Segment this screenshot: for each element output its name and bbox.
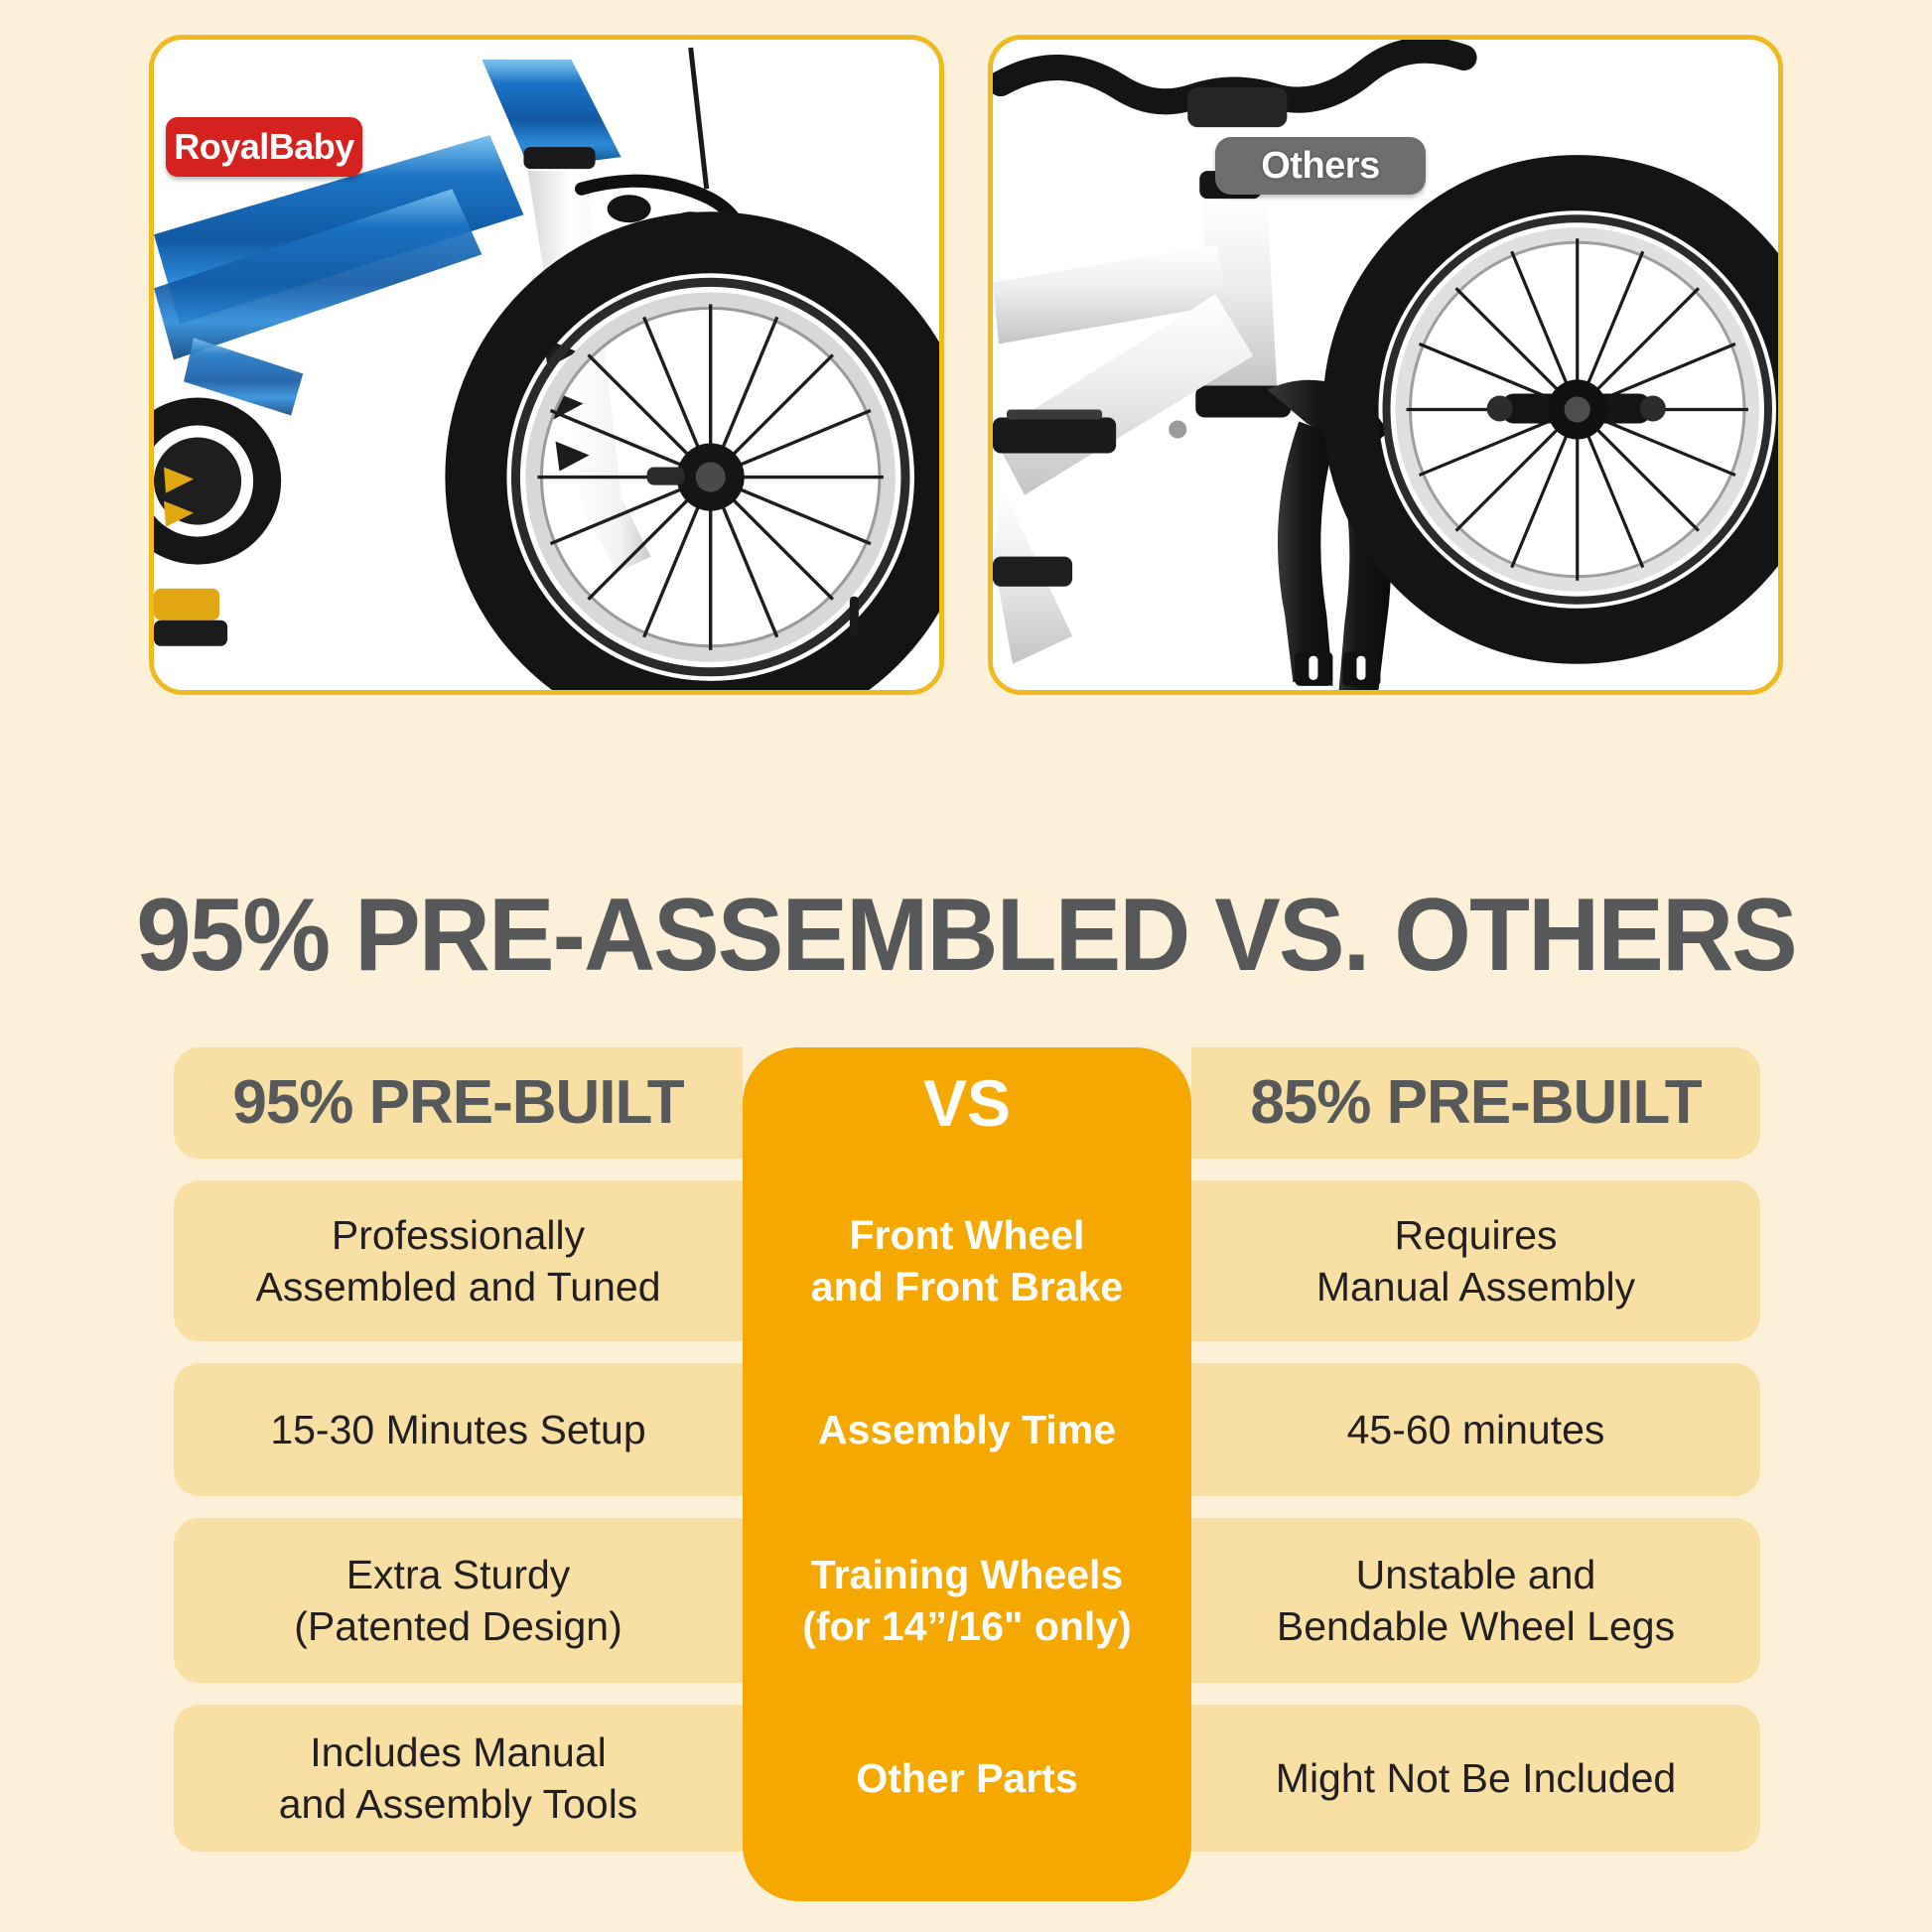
photo-comparison-strip: RoyalBaby (149, 35, 1783, 695)
row-cell-left: ProfessionallyAssembled and Tuned (174, 1180, 743, 1341)
page-title: 95% PRE-ASSEMBLED VS. OTHERS (39, 884, 1893, 987)
table-header-row: 95% PRE-BUILT VS 85% PRE-BUILT (0, 1047, 1932, 1159)
photo-panel-royalbaby: RoyalBaby (149, 35, 944, 695)
badge-royalbaby: RoyalBaby (166, 117, 362, 177)
row-cell-right: Unstable andBendable Wheel Legs (1191, 1518, 1760, 1683)
row-cell-feature: Assembly Time (743, 1363, 1191, 1496)
header-cell-right: 85% PRE-BUILT (1191, 1047, 1760, 1159)
badge-others-label: Others (1261, 145, 1379, 188)
header-cell-vs: VS (743, 1047, 1191, 1159)
row-cell-left: 15-30 Minutes Setup (174, 1363, 743, 1496)
comparison-table: 95% PRE-BUILT VS 85% PRE-BUILT Professio… (0, 1047, 1932, 1901)
row-cell-left: Extra Sturdy(Patented Design) (174, 1518, 743, 1683)
row-cell-feature: Training Wheels(for 14”/16" only) (743, 1518, 1191, 1683)
row-cell-left: Includes Manualand Assembly Tools (174, 1705, 743, 1852)
table-row: Extra Sturdy(Patented Design) Training W… (0, 1518, 1932, 1683)
infographic-page: RoyalBaby (0, 0, 1932, 1932)
header-cell-left: 95% PRE-BUILT (174, 1047, 743, 1159)
table-row: 15-30 Minutes Setup Assembly Time 45-60 … (0, 1363, 1932, 1496)
badge-royalbaby-label: RoyalBaby (174, 126, 354, 168)
table-row: Includes Manualand Assembly Tools Other … (0, 1705, 1932, 1852)
row-cell-feature: Front Wheeland Front Brake (743, 1180, 1191, 1341)
badge-others: Others (1215, 137, 1426, 195)
row-cell-right: RequiresManual Assembly (1191, 1180, 1760, 1341)
row-cell-right: 45-60 minutes (1191, 1363, 1760, 1496)
photo-panel-others: Others (988, 35, 1783, 695)
row-cell-feature: Other Parts (743, 1705, 1191, 1852)
table-row: ProfessionallyAssembled and Tuned Front … (0, 1180, 1932, 1341)
row-cell-right: Might Not Be Included (1191, 1705, 1760, 1852)
